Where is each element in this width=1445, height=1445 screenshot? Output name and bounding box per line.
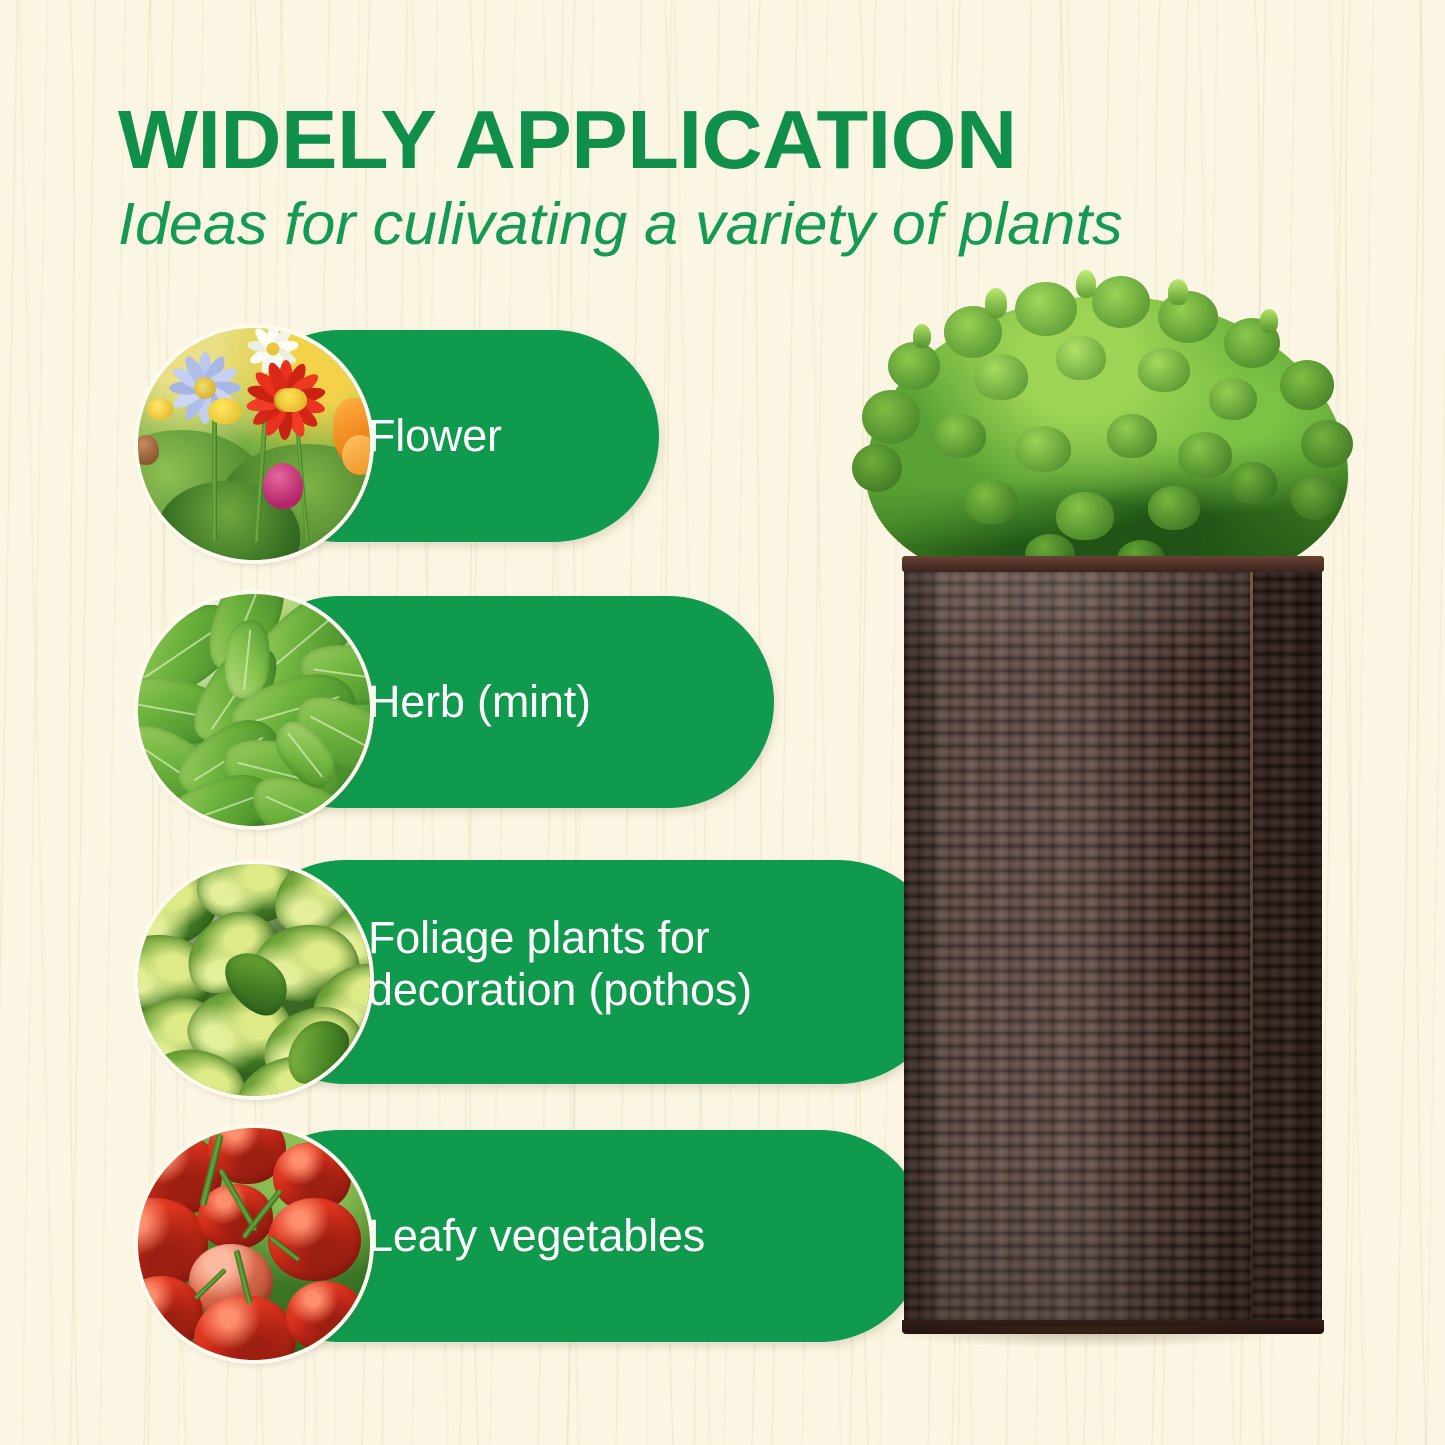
pothos-photo-icon [138,864,370,1096]
planter-side-panel [1252,566,1322,1326]
planter-drop-shadow [886,1326,1286,1348]
rattan-wicker-planter [904,558,1322,1330]
page-subtitle: Ideas for culivating a variety of plants [118,193,1370,255]
planter-rim [902,556,1324,572]
flower-photo-icon [138,328,370,560]
feature-label: Leafy vegetables [368,1210,908,1262]
planter-front-panel [904,558,1252,1330]
product-image [846,282,1366,1352]
tomato-photo-icon [138,1128,370,1360]
feature-label: Flower [368,410,648,462]
header-block: WIDELY APPLICATION Ideas for culivating … [118,97,1328,255]
feature-label: Herb (mint) [368,676,768,728]
boxwood-shrub [852,282,1362,582]
mint-photo-icon [138,594,370,826]
product-feature-graphic: WIDELY APPLICATION Ideas for culivating … [0,0,1445,1445]
page-title: WIDELY APPLICATION [118,97,1352,183]
